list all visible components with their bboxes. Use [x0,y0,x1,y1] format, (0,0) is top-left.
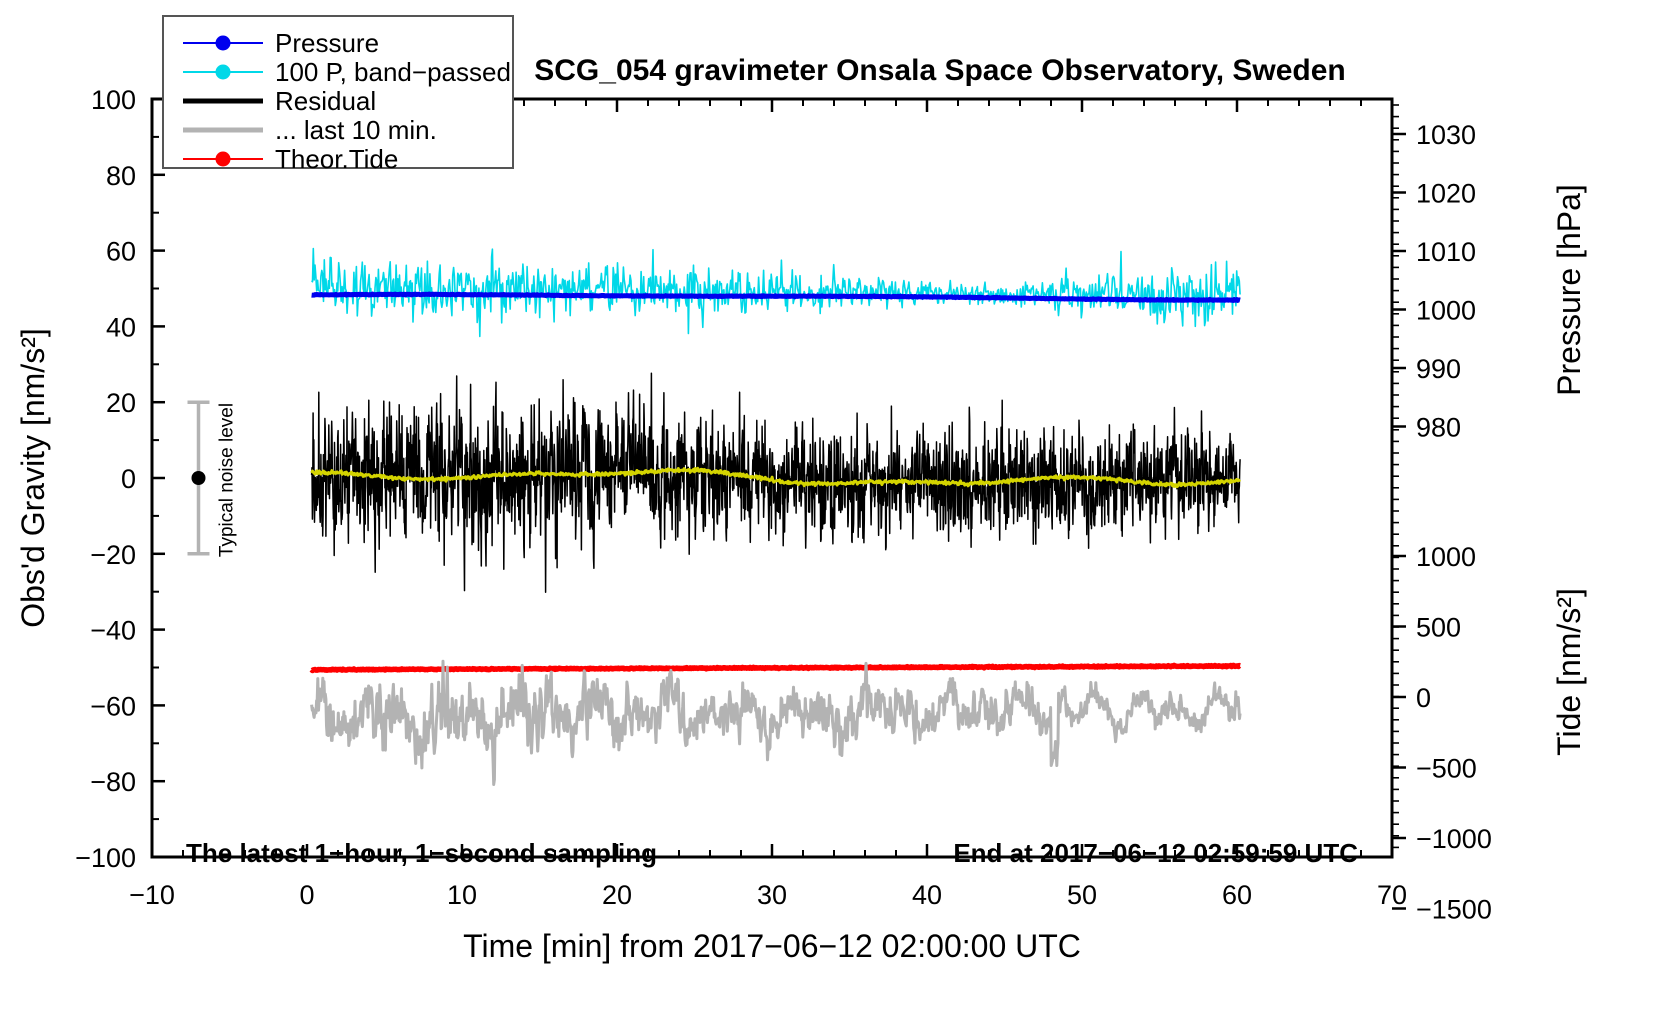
legend-marker-0 [216,36,231,51]
legend-marker-1 [216,65,231,80]
x-axis-title: Time [min] from 2017−06−12 02:00:00 UTC [463,928,1081,964]
gravimeter-chart: −10010203040506070Time [min] from 2017−0… [0,0,1660,1020]
x-tick-label-5: 40 [912,880,942,910]
footer-right-note: End at 2017−06−12 02:59:59 UTC [953,838,1358,868]
y-left-tick-label-5: 0 [121,464,136,494]
y-right-tide-label-3: −500 [1416,754,1477,784]
legend-label-1: 100 P, band−passed [275,57,511,87]
y-right-tide-title: Tide [nm/s²] [1551,588,1587,756]
y-right-pressure-label-0: 1030 [1416,120,1476,150]
x-tick-label-6: 50 [1067,880,1097,910]
y-left-tick-label-1: 80 [106,161,136,191]
y-right-pressure-title: Pressure [hPa] [1551,184,1587,396]
x-tick-label-3: 20 [602,880,632,910]
y-right-tide-label-4: −1000 [1416,824,1492,854]
footer-left-note: The latest 1−hour, 1−second sampling [186,838,657,868]
legend-label-3: ... last 10 min. [275,115,437,145]
x-tick-label-1: 0 [299,880,314,910]
legend-label-2: Residual [275,86,376,116]
legend-label-4: Theor.Tide [275,144,398,174]
y-left-tick-label-7: −40 [90,616,136,646]
y-left-tick-label-2: 60 [106,237,136,267]
x-tick-label-4: 30 [757,880,787,910]
y-right-tide-label-0: 1000 [1416,542,1476,572]
legend-label-0: Pressure [275,28,379,58]
y-left-tick-label-4: 20 [106,388,136,418]
y-right-tide-label-5: −1500 [1416,895,1492,925]
y-left-axis-title: Obs'd Gravity [nm/s²] [15,328,51,628]
y-left-tick-label-8: −60 [90,691,136,721]
y-right-pressure-label-5: 980 [1416,413,1461,443]
y-left-tick-label-10: −100 [75,843,136,873]
x-tick-label-7: 60 [1222,880,1252,910]
y-right-pressure-label-4: 990 [1416,354,1461,384]
y-left-tick-label-6: −20 [90,540,136,570]
y-right-pressure-label-2: 1010 [1416,237,1476,267]
plot-root: −10010203040506070Time [min] from 2017−0… [0,0,1660,1020]
noise-level-label: Typical noise level [217,403,238,557]
y-right-tide-label-1: 500 [1416,613,1461,643]
y-right-tide-label-2: 0 [1416,683,1431,713]
chart-title: SCG_054 gravimeter Onsala Space Observat… [534,54,1346,87]
x-tick-label-8: 70 [1377,880,1407,910]
x-tick-label-2: 10 [447,880,477,910]
y-left-tick-label-3: 40 [106,312,136,342]
y-left-tick-label-9: −80 [90,767,136,797]
y-right-pressure-label-1: 1020 [1416,179,1476,209]
y-left-tick-label-0: 100 [91,85,136,115]
noise-bar-center-dot [192,471,206,485]
legend-marker-4 [216,152,231,167]
y-right-pressure-label-3: 1000 [1416,296,1476,326]
x-tick-label-0: −10 [129,880,175,910]
